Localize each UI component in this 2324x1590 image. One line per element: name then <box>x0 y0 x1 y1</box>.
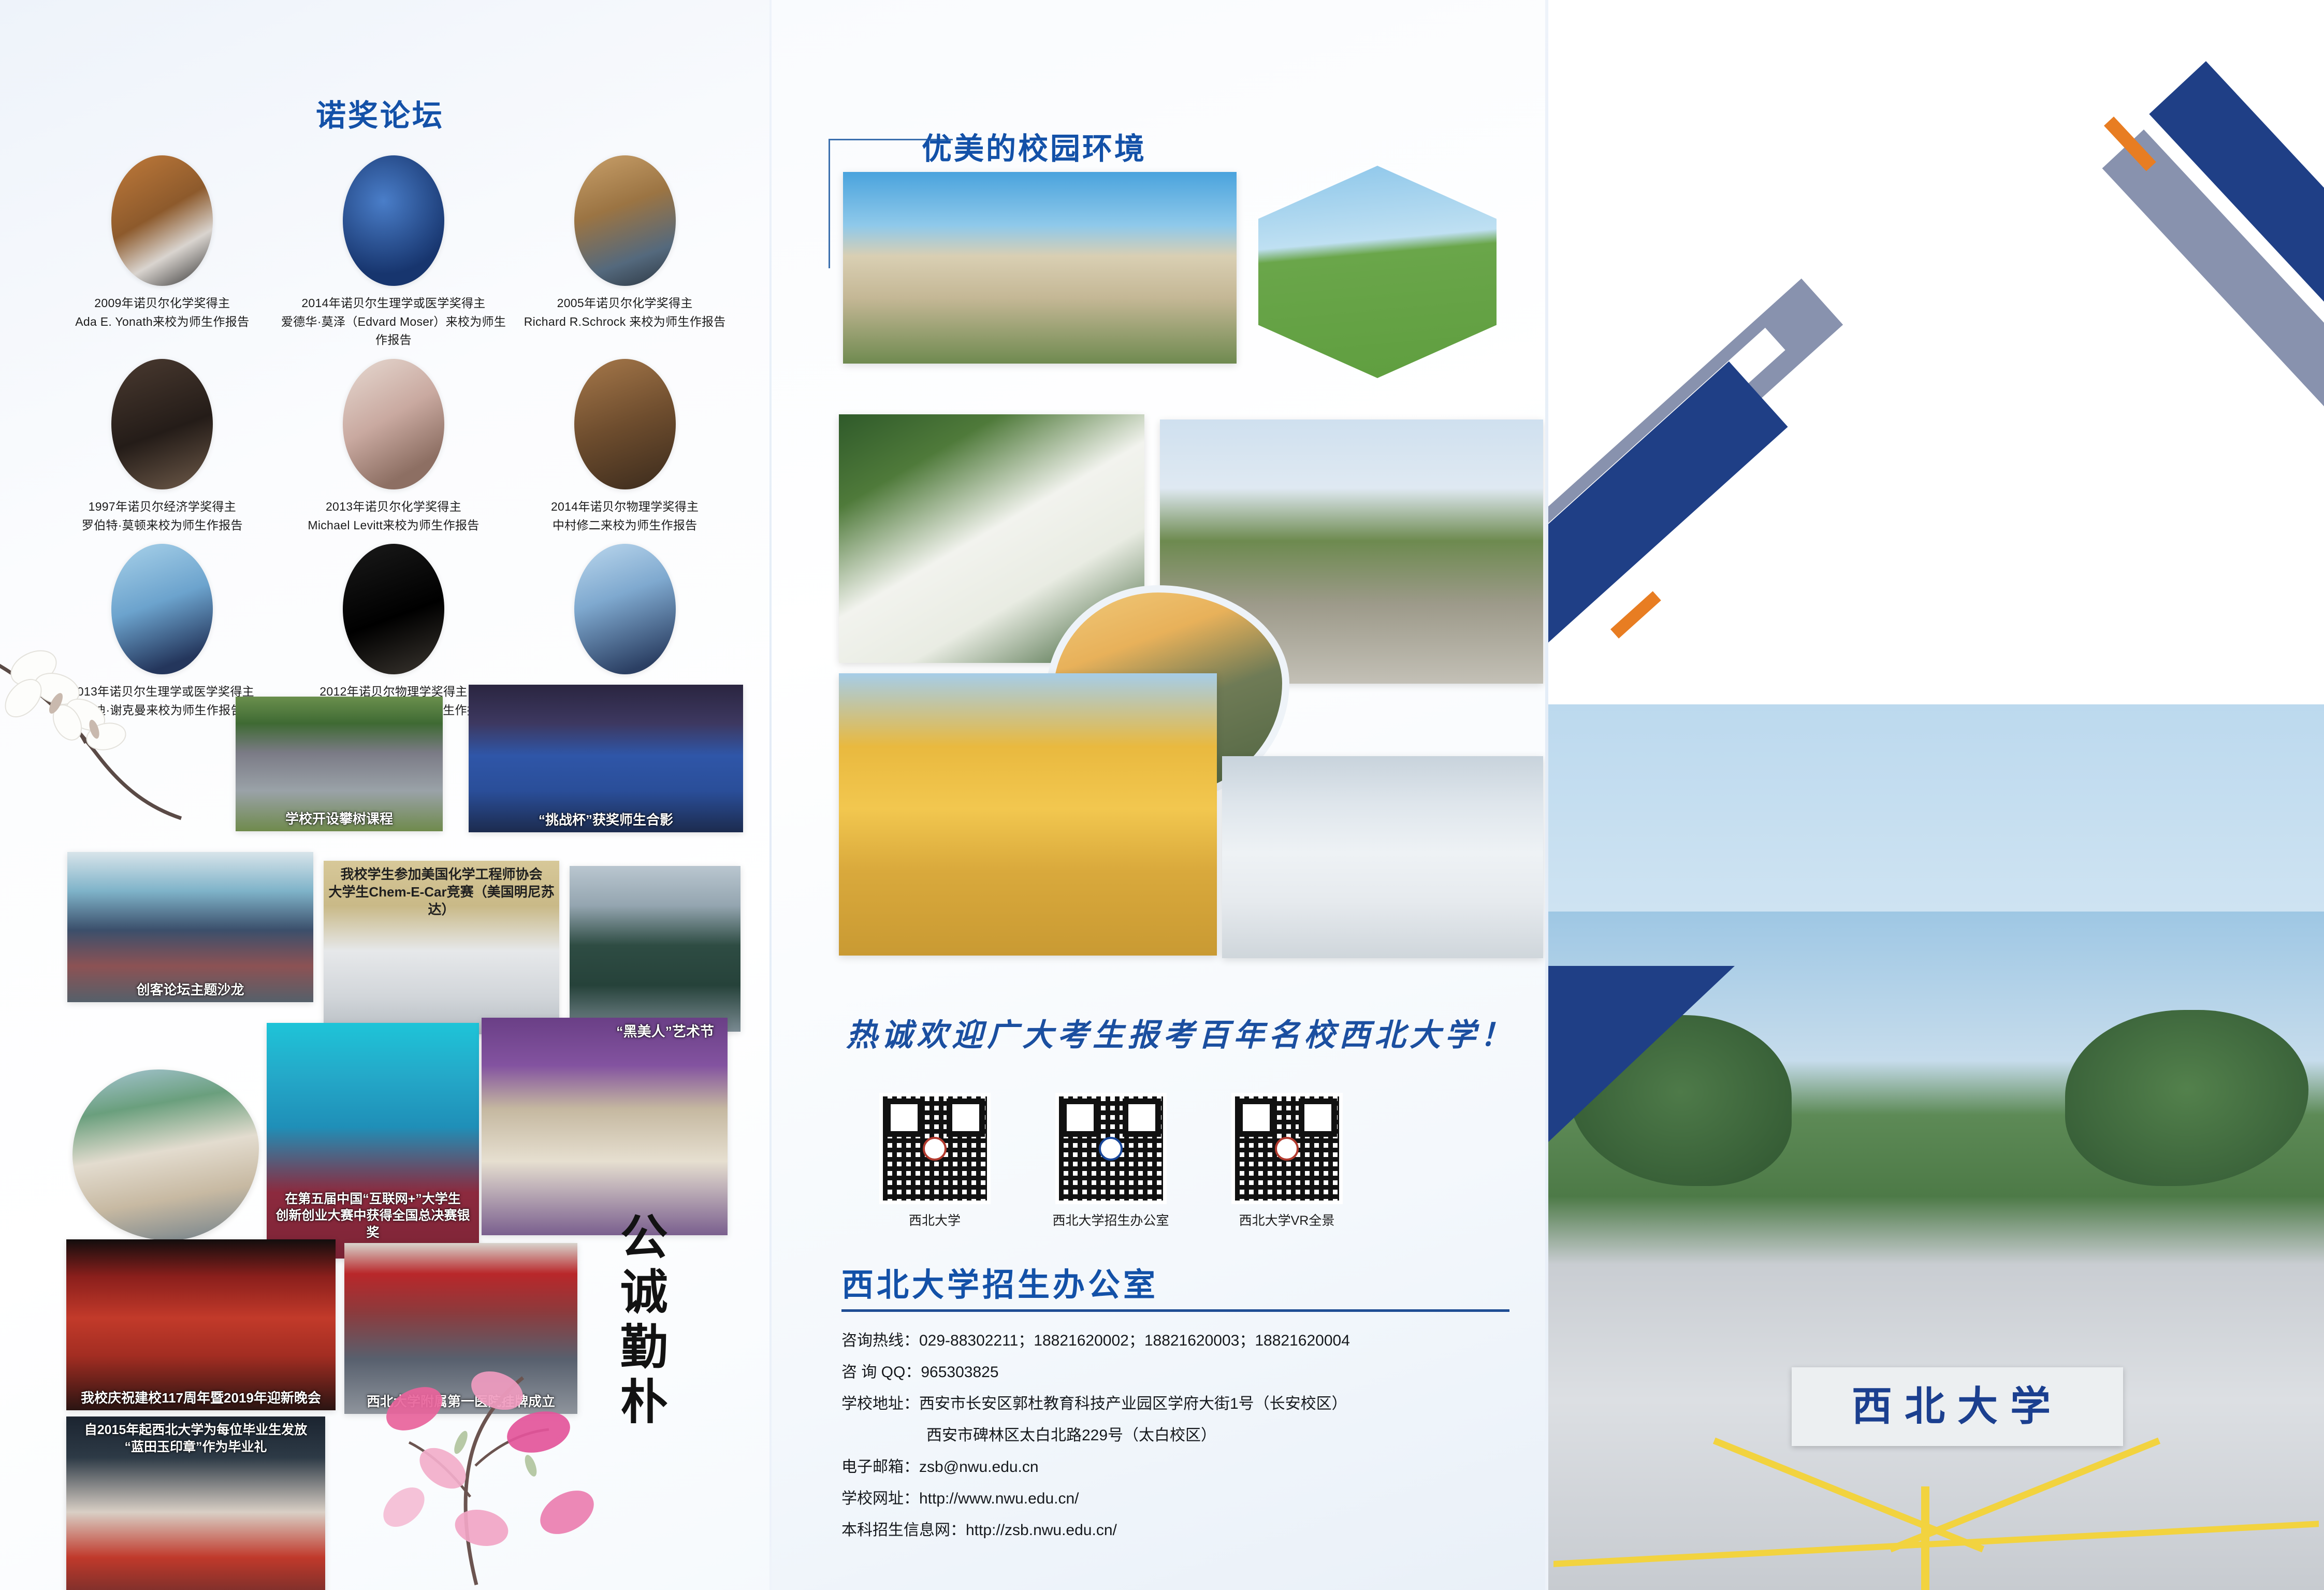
contact-row-address-2: 西安市碑林区太白北路229号（太白校区） <box>841 1427 1525 1444</box>
qr-code-image[interactable] <box>1055 1093 1167 1204</box>
photo-caption: 创客论坛主题沙龙 <box>67 981 313 999</box>
laureate-name: Richard R.Schrock 来校为师生作报告 <box>524 313 726 331</box>
laureate-photo <box>574 155 676 286</box>
photo-caption: “挑战杯”获奖师生合影 <box>469 812 743 829</box>
qr-center-logo <box>1275 1137 1299 1161</box>
qr-code-image[interactable] <box>879 1093 991 1204</box>
laureate-photo <box>111 359 213 489</box>
laureate-card: 2014年诺贝尔生理学或医学奖得主 爱德华·莫泽（Edvard Moser）来校… <box>278 155 510 350</box>
gate-sign-text: 西北大学 <box>1792 1367 2123 1446</box>
laureate-card: 2014年诺贝尔物理学奖得主 中村修二来校为师生作报告 <box>509 359 740 534</box>
magnolia-decoration-icon <box>0 637 202 823</box>
photo-campus-building <box>843 172 1237 364</box>
stripe-orange-accent-lower <box>1610 591 1661 638</box>
photo-caption: 我校学生参加美国化学工程师协会 大学生Chem-E-Car竞赛（美国明尼苏达） <box>324 866 559 918</box>
photo-caption: 自2015年起西北大学为每位毕业生发放 “蓝田玉印章”作为毕业礼 <box>66 1422 325 1455</box>
campus-environment-title: 优美的校园环境 <box>922 124 1146 168</box>
photo-caption: 在第五届中国“互联网+”大学生 创新创业大赛中获得全国总决赛银奖 <box>267 1191 479 1241</box>
contact-row-hotline: 咨询热线：029-88302211；18821620002；1882162000… <box>841 1332 1525 1349</box>
laureate-caption: 2013年诺贝尔化学奖得主 Michael Levitt来校为师生作报告 <box>308 498 479 534</box>
qr-label: 西北大学VR全景 <box>1227 1210 1346 1229</box>
nobel-laureates-grid: 2009年诺贝尔化学奖得主 Ada E. Yonath来校为师生作报告 2014… <box>47 155 740 719</box>
photo-maker-forum: 创客论坛主题沙龙 <box>67 852 313 1002</box>
contact-info-list: 咨询热线：029-88302211；18821620002；1882162000… <box>841 1332 1525 1553</box>
contact-row-qq: 咨 询 QQ：965303825 <box>841 1364 1525 1381</box>
laureate-photo <box>343 359 444 489</box>
contact-row-address-1: 学校地址：西安市长安区郭杜教育科技产业园区学府大街1号（长安校区） <box>841 1395 1525 1412</box>
laureate-name: Michael Levitt来校为师生作报告 <box>308 516 479 535</box>
caption-line-1: 自2015年起西北大学为每位毕业生发放 <box>84 1423 308 1437</box>
laureate-card: 2009年诺贝尔化学奖得主 Ada E. Yonath来校为师生作报告 <box>47 155 278 350</box>
qr-center-logo <box>923 1137 947 1161</box>
laureate-photo <box>111 155 213 286</box>
photo-challenge-cup: “挑战杯”获奖师生合影 <box>469 685 743 832</box>
gate-sign-wall: 西北大学 <box>1792 1367 2123 1446</box>
contact-row-admissions-site[interactable]: 本科招生信息网：http://zsb.nwu.edu.cn/ <box>841 1522 1525 1539</box>
photo-winter-tripod <box>1222 756 1543 958</box>
laureate-award: 2014年诺贝尔物理学奖得主 <box>551 498 699 516</box>
laureate-name: 中村修二来校为师生作报告 <box>551 516 699 535</box>
laureate-award: 2014年诺贝尔生理学或医学奖得主 <box>278 294 510 313</box>
laureate-caption: 2014年诺贝尔生理学或医学奖得主 爱德华·莫泽（Edvard Moser）来校… <box>278 294 510 350</box>
road-line-diag-left <box>1713 1438 1984 1553</box>
laureate-photo <box>343 544 444 674</box>
photo-caption: “黑美人”艺术节 <box>482 1023 728 1041</box>
qr-label: 西北大学招生办公室 <box>1051 1210 1170 1229</box>
pink-magnolia-decoration-icon <box>331 1341 621 1590</box>
contact-row-email[interactable]: 电子邮箱：zsb@nwu.edu.cn <box>841 1458 1525 1476</box>
qr-label: 西北大学 <box>875 1210 994 1229</box>
caption-line-2: “蓝田玉印章”作为毕业礼 <box>124 1440 267 1454</box>
brochure-page: 诺奖论坛 2009年诺贝尔化学奖得主 Ada E. Yonath来校为师生作报告… <box>0 0 2324 1590</box>
photo-caption: 我校庆祝建校117周年暨2019年迎新晚会 <box>66 1390 336 1407</box>
laureate-caption: 2005年诺贝尔化学奖得主 Richard R.Schrock 来校为师生作报告 <box>524 294 726 331</box>
photo-archery <box>72 1069 259 1240</box>
photo-black-beauty-festival: “黑美人”艺术节 <box>482 1018 728 1235</box>
laureate-name: 爱德华·莫泽（Edvard Moser）来校为师生作报告 <box>278 313 510 350</box>
laureate-photo <box>343 155 444 286</box>
nobel-forum-title: 诺奖论坛 <box>316 91 444 135</box>
caption-line-1: 我校学生参加美国化学工程师协会 <box>340 866 542 882</box>
photo-caption: 学校开设攀树课程 <box>236 811 443 828</box>
photo-chem-e-car: 我校学生参加美国化学工程师协会 大学生Chem-E-Car竞赛（美国明尼苏达） <box>324 861 559 1034</box>
qr-item[interactable]: 西北大学VR全景 <box>1227 1093 1346 1229</box>
photo-anniversary-gala: 我校庆祝建校117周年暨2019年迎新晚会 <box>66 1239 336 1410</box>
laureate-card: 2013年诺贝尔化学奖得主 Michael Levitt来校为师生作报告 <box>278 359 510 534</box>
laureate-name: Ada E. Yonath来校为师生作报告 <box>75 313 249 331</box>
caption-line-1: 在第五届中国“互联网+”大学生 <box>285 1192 461 1206</box>
right-cover-panel: 西北大学 <box>1548 0 2324 1590</box>
laureate-caption: 2009年诺贝尔化学奖得主 Ada E. Yonath来校为师生作报告 <box>75 294 249 331</box>
qr-item[interactable]: 西北大学招生办公室 <box>1051 1093 1170 1229</box>
qr-code-image[interactable] <box>1231 1093 1343 1204</box>
photo-autumn-ginkgo <box>839 673 1217 956</box>
photo-jade-seal: 自2015年起西北大学为每位毕业生发放 “蓝田玉印章”作为毕业礼 <box>66 1416 325 1590</box>
stripe-navy-lower <box>1548 362 1788 739</box>
contact-row-website[interactable]: 学校网址：http://www.nwu.edu.cn/ <box>841 1490 1525 1507</box>
laureate-card: 2005年诺贝尔化学奖得主 Richard R.Schrock 来校为师生作报告 <box>509 155 740 350</box>
laureate-caption: 1997年诺贝尔经济学奖得主 罗伯特·莫顿来校为师生作报告 <box>82 498 243 534</box>
welcome-banner: 热诚欢迎广大考生报考百年名校西北大学！ <box>839 1010 1522 1055</box>
laureate-caption: 2014年诺贝尔物理学奖得主 中村修二来校为师生作报告 <box>551 498 699 534</box>
laureate-name: 罗伯特·莫顿来校为师生作报告 <box>82 516 243 535</box>
caption-line-2: 创新创业大赛中获得全国总决赛银奖 <box>275 1208 470 1240</box>
caption-line-2: 大学生Chem-E-Car竞赛（美国明尼苏达） <box>328 884 554 917</box>
qr-item[interactable]: 西北大学 <box>875 1093 994 1229</box>
admissions-office-title: 西北大学招生办公室 <box>841 1259 1158 1305</box>
laureate-award: 1997年诺贝尔经济学奖得主 <box>82 498 243 516</box>
laureate-card: 1997年诺贝尔经济学奖得主 罗伯特·莫顿来校为师生作报告 <box>47 359 278 534</box>
laureate-award: 2013年诺贝尔化学奖得主 <box>308 498 479 516</box>
laureate-award: 2009年诺贝尔化学奖得主 <box>75 294 249 313</box>
qr-center-logo <box>1099 1137 1123 1161</box>
photo-tree-climbing: 学校开设攀树课程 <box>236 697 443 831</box>
laureate-photo <box>574 544 676 674</box>
tree-right <box>2065 1010 2308 1186</box>
photo-internet-plus: 在第五届中国“互联网+”大学生 创新创业大赛中获得全国总决赛银奖 <box>267 1023 479 1259</box>
left-panel: 诺奖论坛 2009年诺贝尔化学奖得主 Ada E. Yonath来校为师生作报告… <box>0 0 772 1590</box>
laureate-award: 2005年诺贝尔化学奖得主 <box>524 294 726 313</box>
office-title-rule <box>841 1309 1509 1312</box>
laureate-photo <box>574 359 676 489</box>
photo-flag-guard <box>570 866 740 1032</box>
qr-code-row: 西北大学 西北大学招生办公室 西北大学VR全景 <box>875 1093 1486 1229</box>
